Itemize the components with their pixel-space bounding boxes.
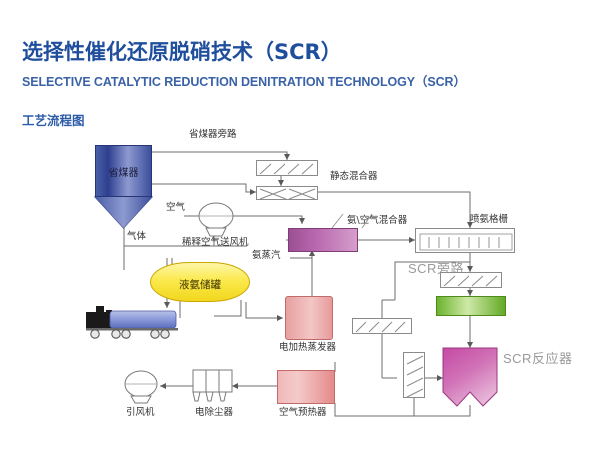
- process-flow-diagram: 省煤器 省煤器旁路: [0, 0, 600, 450]
- label-id-fan: 引风机: [126, 408, 155, 418]
- equipment-id-fan[interactable]: [0, 0, 600, 450]
- slide-canvas: 选择性催化还原脱硝技术（SCR） SELECTIVE CATALYTIC RED…: [0, 0, 600, 450]
